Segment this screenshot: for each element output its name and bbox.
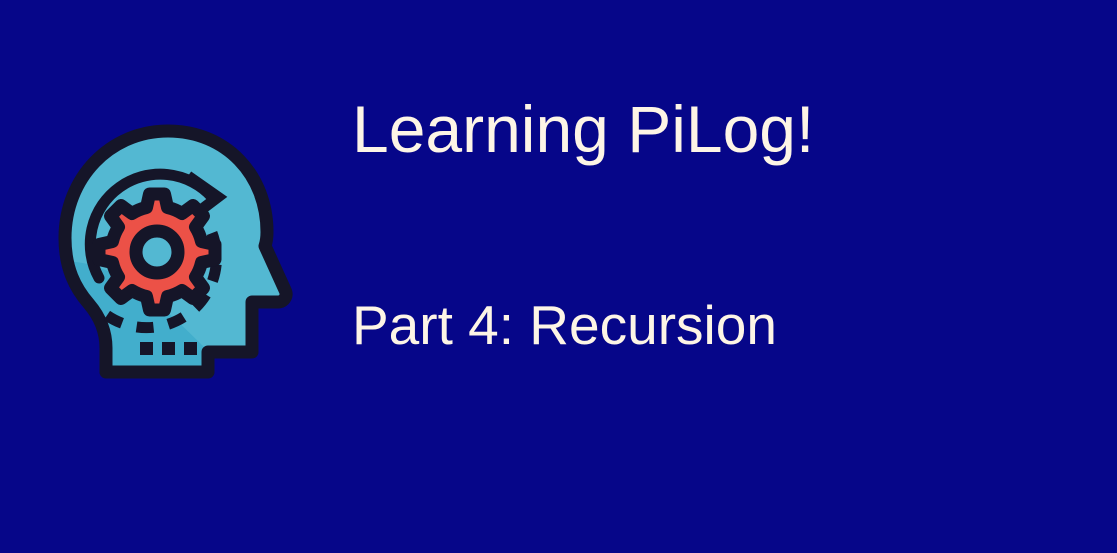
head-with-gear-icon xyxy=(52,120,308,390)
slide-canvas: Learning PiLog! Part 4: Recursion xyxy=(0,0,1117,553)
gear-center-hole xyxy=(136,231,178,273)
page-subtitle: Part 4: Recursion xyxy=(352,298,777,353)
neck-dot-2 xyxy=(162,342,175,355)
gear xyxy=(99,194,215,310)
head-with-gear-icon-svg xyxy=(52,120,308,390)
neck-dot-1 xyxy=(140,342,153,355)
slide-text-block: Learning PiLog! Part 4: Recursion xyxy=(352,96,1072,162)
neck-dot-3 xyxy=(184,342,197,355)
page-title: Learning PiLog! xyxy=(352,96,1072,162)
